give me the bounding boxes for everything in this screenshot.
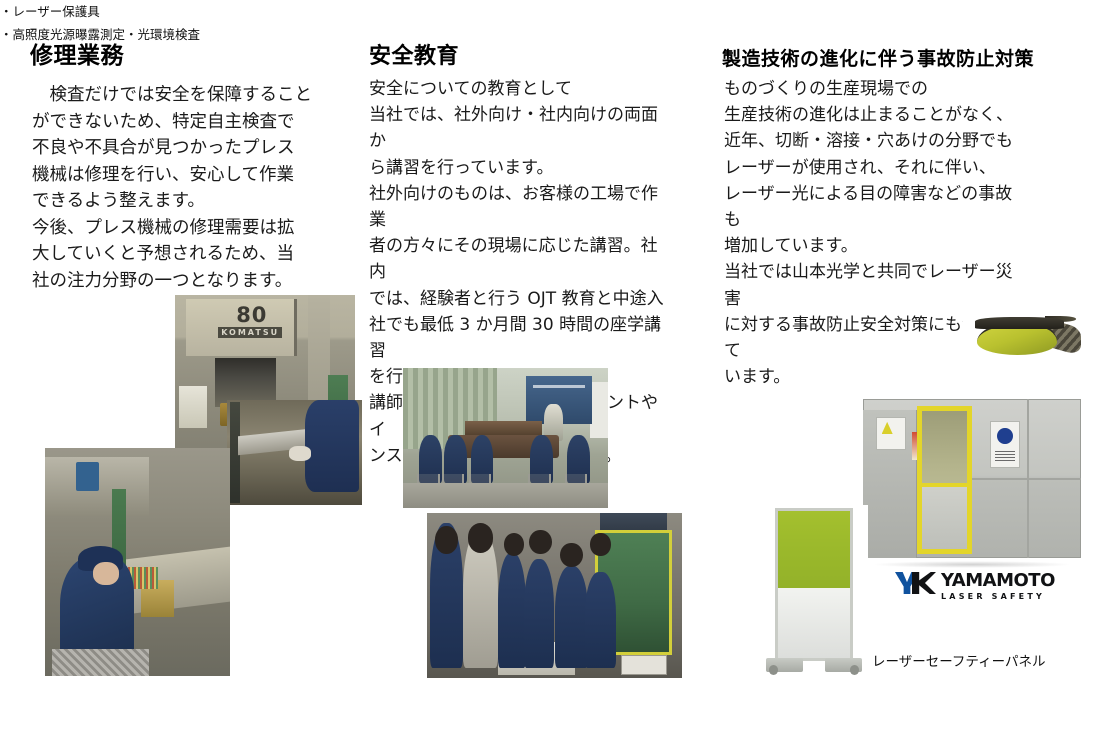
training-participant-head xyxy=(435,526,458,554)
yamamoto-k-shape-icon xyxy=(912,572,936,594)
press-machine-brand-label: KOMATSU xyxy=(218,327,282,338)
training-control-box xyxy=(621,655,667,675)
training-participant xyxy=(524,559,555,668)
column-title-accident-prevention: 製造技術の進化に伴う事故防止対策 xyxy=(722,44,1034,71)
training-participant xyxy=(555,566,588,668)
bench-work-photo xyxy=(227,400,362,505)
yamamoto-tagline: LASER SAFETY xyxy=(941,592,1045,601)
yamamoto-wordmark: YAMAMOTO xyxy=(941,570,1055,591)
press-machine-number-label: 80 xyxy=(236,303,267,327)
classroom-screen-text-line xyxy=(533,385,586,388)
brochure-page: 修理業務 検査だけでは安全を保障すること ができないため、特定自主検査で 不良や… xyxy=(0,0,1095,729)
classroom-whiteboard xyxy=(590,382,608,438)
enclosure-laser-class-label xyxy=(990,421,1020,468)
classroom-back-table xyxy=(465,421,543,435)
enclosure-vertical-seam xyxy=(1027,399,1029,557)
training-participant xyxy=(498,553,526,669)
repair-work-photo xyxy=(45,448,230,676)
column-title-safety-education: 安全教育 xyxy=(369,38,459,70)
enclosure-ground-shadow xyxy=(872,561,1073,568)
bench-worker-arm xyxy=(305,400,359,492)
repair-floor-chips xyxy=(52,649,148,676)
laser-safety-enclosure-photo xyxy=(858,392,1086,572)
training-participant-head xyxy=(590,533,610,556)
press-window-light xyxy=(179,386,208,428)
training-participant-head xyxy=(560,543,583,568)
repair-worker-face xyxy=(93,562,119,585)
enclosure-warning-strip xyxy=(912,432,918,461)
yamamoto-laser-safety-logo: YAMAMOTO LASER SAFETY xyxy=(895,570,1045,608)
panel-caster-wheel xyxy=(850,665,860,675)
eyewear-brow-frame xyxy=(975,317,1064,328)
training-participant xyxy=(585,572,616,668)
column-body-repair: 検査だけでは安全を保障すること ができないため、特定自主検査で 不良や不具合が見… xyxy=(32,82,352,294)
column-title-repair: 修理業務 xyxy=(30,36,124,70)
laser-safety-panel-caption: レーザーセーフティーパネル xyxy=(872,650,1045,670)
bench-worker-glove xyxy=(289,446,311,461)
enclosure-door-opening xyxy=(917,406,972,554)
training-participant-head xyxy=(468,523,494,553)
hands-on-training-photo xyxy=(427,513,682,678)
panel-green-laser-screen xyxy=(778,511,850,587)
classroom-seminar-photo xyxy=(403,368,608,508)
panel-frame xyxy=(775,508,853,661)
classroom-floor xyxy=(403,483,608,508)
panel-caster-wheel xyxy=(769,665,779,675)
training-participant-head xyxy=(504,533,524,556)
panel-lower-section xyxy=(778,588,850,659)
yamamoto-yk-mark-icon xyxy=(895,572,937,594)
repair-blue-drum xyxy=(76,462,98,492)
enclosure-hazard-warning-label xyxy=(876,417,906,449)
laser-protective-eyewear-photo xyxy=(963,302,1083,372)
enclosure-door-lower-panel xyxy=(922,483,967,549)
laser-safety-panel-photo xyxy=(760,505,868,675)
training-participant-head xyxy=(529,530,552,555)
